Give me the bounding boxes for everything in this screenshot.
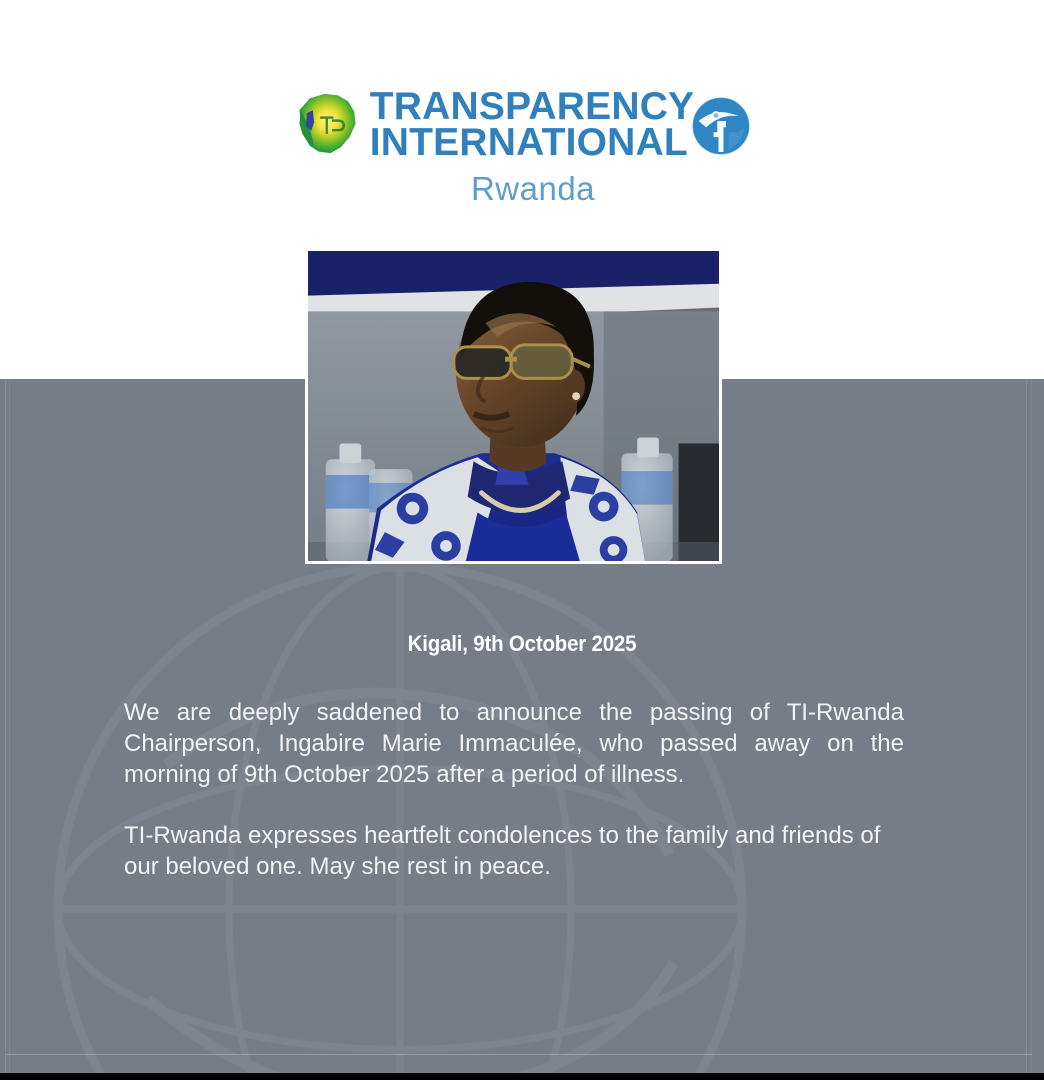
announcement-paragraph-1: We are deeply saddened to announce the p…: [124, 697, 904, 790]
logo-row: TRANSPARENCY INTERNATIONAL: [292, 88, 753, 162]
announcement-paragraph-2: TI-Rwanda expresses heartfelt condolence…: [124, 820, 904, 882]
panel-bottom-rule: [6, 1054, 1032, 1055]
portrait-photo: [308, 251, 719, 561]
panel-edge-rule-right: [1026, 379, 1027, 1073]
paragraph-spacer: [124, 790, 904, 820]
logo-subtitle: Rwanda: [449, 170, 595, 208]
logo-line-transparency: TRANSPARENCY: [370, 89, 695, 125]
logo-line-international: INTERNATIONAL: [370, 125, 695, 161]
bottom-bar: [0, 1073, 1044, 1080]
portrait-photo-frame: [305, 248, 722, 564]
panel-edge-rule-left: [5, 379, 6, 1073]
condolence-poster: TRANSPARENCY INTERNATIONAL: [0, 0, 1044, 1080]
panel-edge-rule-left-secondary: [9, 379, 10, 1073]
announcement-body: We are deeply saddened to announce the p…: [124, 697, 904, 882]
transparency-international-globe-icon: [690, 95, 752, 157]
logo-wordmark: TRANSPARENCY INTERNATIONAL: [370, 89, 695, 161]
panel-edge-rule-right-secondary: [1031, 379, 1032, 1073]
dateline: Kigali, 9th October 2025: [37, 631, 1008, 657]
rwanda-map-emblem-icon: [292, 88, 366, 162]
organization-logo: TRANSPARENCY INTERNATIONAL: [0, 88, 1044, 208]
